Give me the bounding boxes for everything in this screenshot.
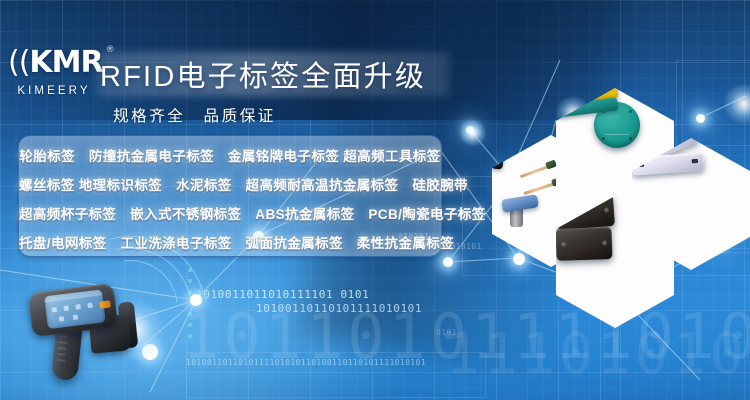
abs-anti-metal-tag: [556, 227, 613, 261]
kimeery-logo-icon: ((KMR ®: [8, 48, 103, 78]
light-spark: [460, 120, 486, 146]
tag-list-row: 超高频杯子标签 嵌入式不锈钢标签 ABS抗金属标签 PCB/陶瓷电子标签: [19, 203, 441, 223]
brand-logo[interactable]: ((KMR ® KIMEERY: [8, 48, 100, 97]
network-node: [696, 114, 705, 123]
rfid-promo-banner: 10110101111010 11101010 1010011011010111…: [0, 0, 750, 400]
logo-mark-text: KMR: [29, 45, 102, 80]
tag-list-row: 螺丝标签 地理标识标签 水泥标签 超高频耐高温抗金属标签 硅胶腕带: [19, 174, 441, 194]
reader-status-led: [99, 300, 111, 308]
product-tag-list-panel: 轮胎标签 防撞抗金属电子标签 金属铭牌电子标签 超高频工具标签 螺丝标签 地理标…: [18, 135, 442, 257]
network-node: [443, 257, 453, 267]
page-title: RFID电子标签全面升级: [100, 52, 450, 96]
reader-screen: [44, 289, 106, 329]
page-subtitle: 规格齐全 品质保证: [113, 104, 276, 126]
tag-list-row: 轮胎标签 防撞抗金属电子标签 金属铭牌电子标签 超高频工具标签: [19, 145, 441, 165]
brand-wordmark: KIMEERY: [8, 85, 100, 97]
handheld-rfid-reader[interactable]: [24, 272, 150, 397]
tag-list-row: 托盘/电网标签 工业洗涤电子标签 弧面抗金属标签 柔性抗金属标签: [19, 232, 441, 252]
network-node: [513, 253, 525, 265]
